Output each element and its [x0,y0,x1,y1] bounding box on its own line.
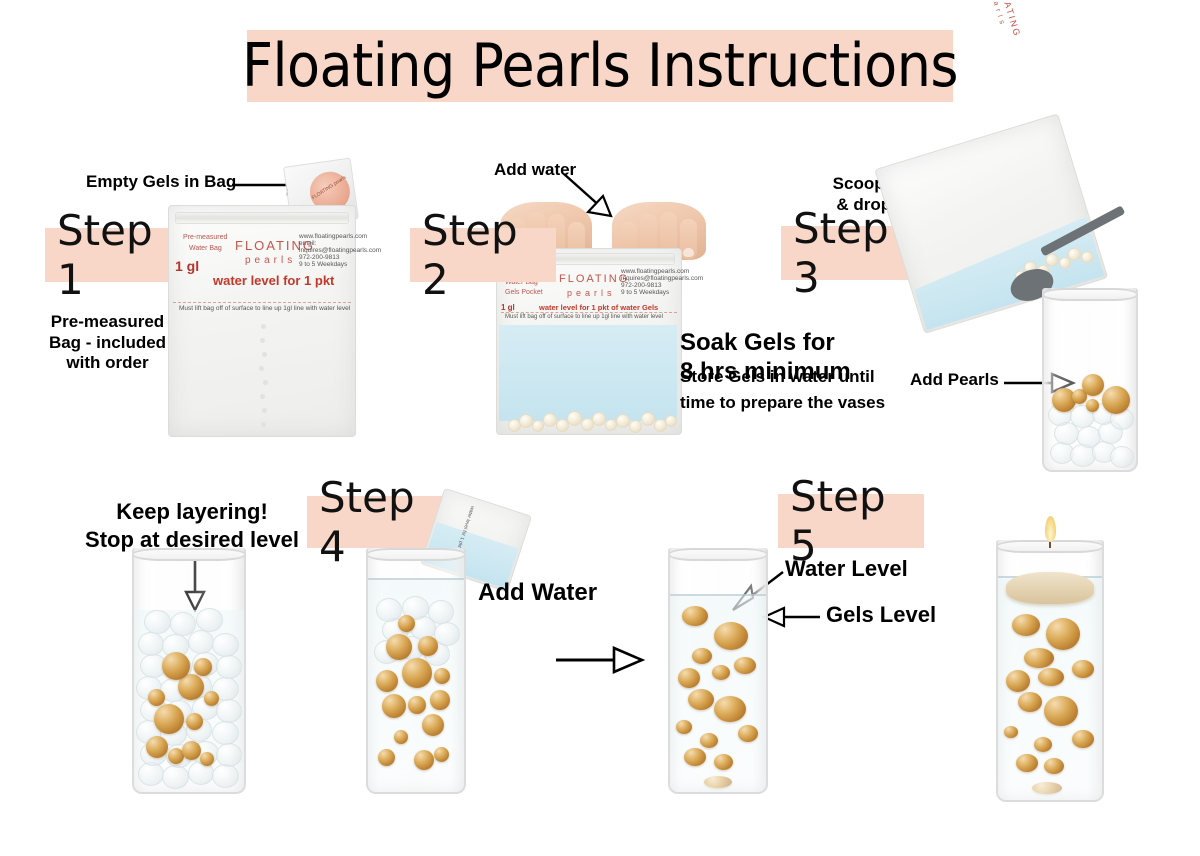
gold-pearl [1006,670,1030,692]
bag-fill-line [173,302,352,303]
step-1-callout-premeasured: Pre-measured Bag - included with order [40,312,175,374]
gold-pearl [162,652,190,680]
gold-pearl [676,720,692,734]
page-title-banner: Floating Pearls Instructions [247,30,953,102]
step-4-callout-layering: Keep layering! Stop at desired level [62,498,322,553]
step-5-label-gels-level: Gels Level [826,602,936,629]
bag-label-water-level: water level for 1 pkt of water Gels [539,303,658,312]
gold-pearl [1004,726,1018,738]
page-title: Floating Pearls Instructions [242,31,958,101]
bag-label-brand-bottom: pearls [245,255,296,266]
vase-rim [1042,288,1138,301]
step-2-badge: Step 2 [410,228,556,282]
step-4-layer-vase [132,548,246,794]
step-1-callout-empty-gels: Empty Gels in Bag [86,172,236,193]
gold-pearl [376,670,398,692]
bag-label-gallon: 1 gl [175,258,199,274]
bag-label-fine-print: Must lift bag off of surface to line up … [179,305,350,312]
step-1-callout-line-1: Pre-measured [40,312,175,333]
bag-label-contact: www.floatingpearls.com email: inquires@f… [299,233,353,268]
gold-pearl [1072,730,1094,748]
gold-pearl [418,636,438,656]
gold-pearl [1082,374,1104,396]
transition-arrow [556,645,646,675]
gel-packet-seal-text: FLOATING pearls [311,175,348,201]
gold-pearl [422,714,444,736]
gold-pearl [186,713,203,730]
gold-pearl [1024,648,1054,668]
gold-pearl [154,704,184,734]
step-2-note-body-line-2: time to prepare the vases [680,390,885,416]
gold-pearl [1046,618,1080,650]
bag-label-water-level: water level for 1 pkt [213,273,334,288]
gold-pearl [382,694,406,718]
step-5-label-water-level: Water Level [785,556,908,583]
gold-pearl [430,690,450,710]
gold-pearl [408,696,426,714]
gold-pearl [738,725,758,742]
bag-contact-line-2: email: [299,240,353,247]
gold-pearl [414,750,434,770]
gold-pearl [688,689,714,710]
gold-pearl [182,741,201,760]
bag-label-waterbag: Water Bag [189,245,222,254]
gold-pearl [714,696,746,722]
bag-label-premeasured: Pre-measured [183,234,227,243]
bag-seam-dots [257,324,271,429]
step-5-vase [668,548,768,794]
step-5-badge: Step 5 [778,494,924,548]
gold-pearl [684,748,706,766]
gold-pearl [146,736,168,758]
step-3-callout-add-pearls: Add Pearls [910,370,999,391]
gold-pearl [200,752,214,766]
gold-pearl [1044,696,1078,726]
step-4-callout-line-1: Keep layering! [62,498,322,526]
gold-pearl [714,622,748,650]
gold-pearl [1018,692,1042,712]
gold-pearl [1102,386,1130,414]
gold-pearl [700,733,718,748]
vase-rim [366,548,466,561]
gold-pearl [394,730,408,744]
gold-pearl [434,668,450,684]
bag-label-brand-bottom: pearls [567,288,616,298]
gold-pearl [204,691,219,706]
bag-fill-line [501,312,678,313]
gold-pearl [682,606,708,626]
gold-pearl [734,657,756,674]
step-1-bag: Pre-measured Water Bag FLOATING pearls 1… [168,205,356,437]
gold-pearl [714,754,733,770]
gold-pearl [398,615,415,632]
vase-water-line [670,594,766,596]
bag-contact-line-1: www.floatingpearls.com [299,233,353,240]
bag-contact-line-4: 972-200-9813 [299,254,353,261]
final-vase-with-candle [996,540,1104,802]
step-2-note-body: Store Gels in water until time to prepar… [680,364,885,415]
gold-pearl [1034,737,1052,752]
vase-rim [668,548,768,561]
bag-contact-line-3: inquires@floatingpearls.com [621,275,677,282]
bag-zip-seal [175,212,350,224]
gold-pearl [1086,399,1099,412]
candle-flame-group [1038,516,1062,552]
fingernail [683,248,694,257]
vase-water-line [368,578,464,580]
bag-label-gallon: 1 gl [501,303,515,312]
gold-pearl [1072,660,1094,678]
step-4-callout-add-water: Add Water [478,578,597,607]
finger [680,219,697,260]
gold-pearl [704,776,732,788]
gold-pearl [402,658,432,688]
bag-label-fine-print: Must lift bag off of surface to line up … [505,314,663,320]
step-2-note-body-line-1: Store Gels in water until [680,364,885,390]
gold-pearl [1012,614,1040,636]
step-2-note-heading-line-1: Soak Gels for [680,328,851,357]
step-1-badge: Step 1 [45,228,187,282]
bag-contact-line-1: www.floatingpearls.com [621,268,677,275]
gold-pearl [386,634,412,660]
gold-pearl [378,749,395,766]
step-1-callout-line-3: with order [40,353,175,374]
bag-contact-line-3: inquires@floatingpearls.com [299,247,353,254]
gold-pearl [1044,758,1064,774]
gold-pearl [712,665,730,680]
bag-contact-line-4: 972-200-9813 [621,282,677,289]
bag-gel-beads [504,406,673,432]
gold-pearl [194,658,212,676]
gold-pearl [692,648,712,664]
gold-pearl [678,668,700,688]
step-5-arrow-gels-level [762,606,824,628]
gold-pearl [434,747,449,762]
step-3-vase [1042,288,1138,472]
step-4-vase [366,548,466,794]
bag-label: Pre-measured Water Bag FLOATING pearls 1… [169,232,355,302]
bag-label-brand-top: FLOATING [559,273,629,285]
gold-pearl [1032,782,1062,794]
gold-pearl [1038,668,1064,686]
gold-pearl [1016,754,1038,772]
gold-pearl [148,689,165,706]
step-1-callout-line-2: Bag - included [40,333,175,354]
bag-contact-line-5: 9 to 5 Weekdays [299,261,353,268]
bag-contact-line-5: 9 to 5 Weekdays [621,289,677,296]
candle-flame [1045,516,1056,542]
vase-rim [132,548,246,561]
bag-label-contact: www.floatingpearls.com inquires@floating… [621,268,677,296]
floating-candle [1006,572,1094,604]
